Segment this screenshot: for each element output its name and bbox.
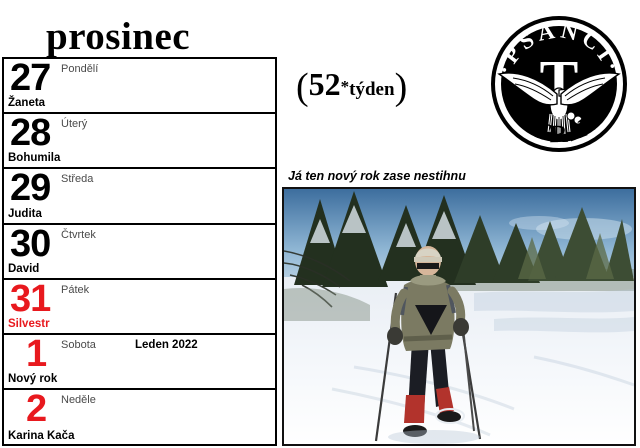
next-month-label: Leden 2022 (135, 338, 198, 352)
table-row[interactable]: 29 Středa Judita (4, 169, 275, 224)
day-weekday-name: Úterý (61, 118, 87, 131)
day-nameday: Karina Kača (8, 430, 74, 443)
day-number: 31 (10, 280, 50, 320)
day-weekday-name: Pondělí (61, 63, 98, 76)
day-weekday-name: Čtvrtek (61, 229, 96, 242)
psanci-ostrava-logo: ·PSANCI· T OSTRAVA (483, 8, 635, 160)
day-nameday: Judita (8, 208, 42, 221)
week-star: * (341, 77, 350, 96)
day-nameday: Bohumila (8, 152, 60, 165)
calendar-week-table: 27 Pondělí Žaneta 28 Úterý Bohumila 29 S… (2, 57, 277, 446)
day-number: 27 (10, 59, 50, 99)
table-row[interactable]: 27 Pondělí Žaneta (4, 59, 275, 114)
table-row[interactable]: 30 Čtvrtek David (4, 225, 275, 280)
day-number: 28 (10, 114, 50, 154)
week-number-badge: (52*týden) (296, 66, 407, 106)
day-nameday: Silvestr (8, 318, 50, 331)
day-weekday-name: Středa (61, 173, 93, 186)
day-weekday-name: Neděle (61, 394, 96, 407)
day-weekday-name: Sobota (61, 339, 96, 352)
table-row[interactable]: 28 Úterý Bohumila (4, 114, 275, 169)
page-title: prosinec (46, 16, 190, 58)
table-row[interactable]: 1 Sobota Leden 2022 Nový rok (4, 335, 275, 390)
photo-winter-skier (282, 187, 636, 446)
table-row[interactable]: 2 Neděle Karina Kača (4, 390, 275, 445)
week-close-paren: ) (395, 66, 408, 108)
day-number: 30 (10, 225, 50, 265)
day-number: 29 (10, 169, 50, 209)
day-weekday-name: Pátek (61, 284, 89, 297)
day-nameday: Žaneta (8, 97, 45, 110)
week-number: 52 (309, 66, 341, 102)
day-number: 2 (26, 390, 46, 430)
photo-caption: Já ten nový rok zase nestihnu (288, 169, 466, 184)
table-row[interactable]: 31 Pátek Silvestr (4, 280, 275, 335)
day-number: 1 (26, 335, 46, 375)
day-nameday: Nový rok (8, 373, 57, 386)
day-nameday: David (8, 263, 39, 276)
week-label: týden (349, 79, 394, 100)
week-open-paren: ( (296, 66, 309, 108)
